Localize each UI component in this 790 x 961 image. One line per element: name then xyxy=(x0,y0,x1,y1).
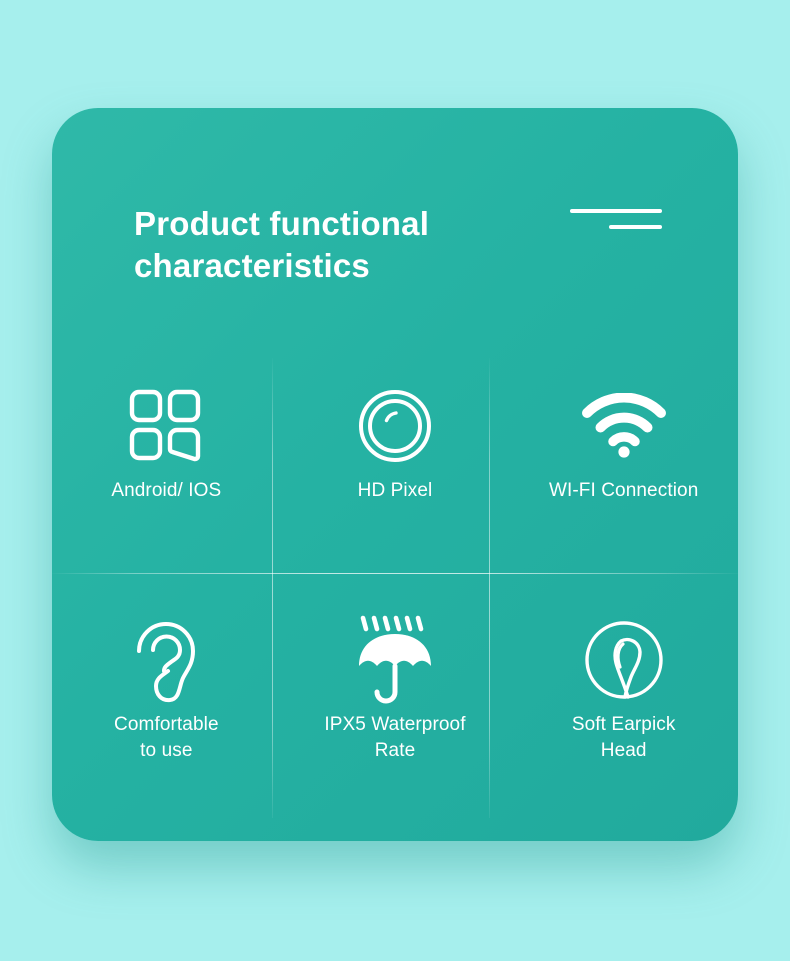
feature-item-waterproof[interactable]: IPX5 Waterproof Rate xyxy=(281,588,510,818)
feature-card: Product functional characteristics Andro… xyxy=(52,108,738,841)
page-root: Product functional characteristics Andro… xyxy=(0,0,790,961)
feature-item-wifi[interactable]: WI-FI Connection xyxy=(509,358,738,588)
feature-label: Android/ IOS xyxy=(111,478,221,504)
feature-label: WI-FI Connection xyxy=(549,478,698,504)
page-title: Product functional characteristics xyxy=(134,203,514,286)
wifi-icon xyxy=(582,380,666,472)
camera-lens-icon xyxy=(355,380,435,472)
feature-item-earpick[interactable]: Soft Earpick Head xyxy=(509,588,738,818)
app-grid-icon xyxy=(126,380,206,472)
double-rule-decoration xyxy=(570,209,662,229)
feature-item-comfortable[interactable]: Comfortable to use xyxy=(52,588,281,818)
feature-item-hd-pixel[interactable]: HD Pixel xyxy=(281,358,510,588)
decoration-line-top xyxy=(570,209,662,213)
feature-label: Soft Earpick Head xyxy=(572,712,676,764)
earpick-head-icon xyxy=(583,614,665,706)
feature-grid: Android/ IOS HD Pixel xyxy=(52,358,738,818)
ear-icon xyxy=(131,614,201,706)
feature-item-android-ios[interactable]: Android/ IOS xyxy=(52,358,281,588)
decoration-line-bottom xyxy=(609,225,662,229)
feature-label: IPX5 Waterproof Rate xyxy=(324,712,465,764)
feature-label: HD Pixel xyxy=(358,478,433,504)
card-header: Product functional characteristics xyxy=(134,203,674,286)
feature-label: Comfortable to use xyxy=(114,712,219,764)
umbrella-rain-icon xyxy=(353,614,437,706)
